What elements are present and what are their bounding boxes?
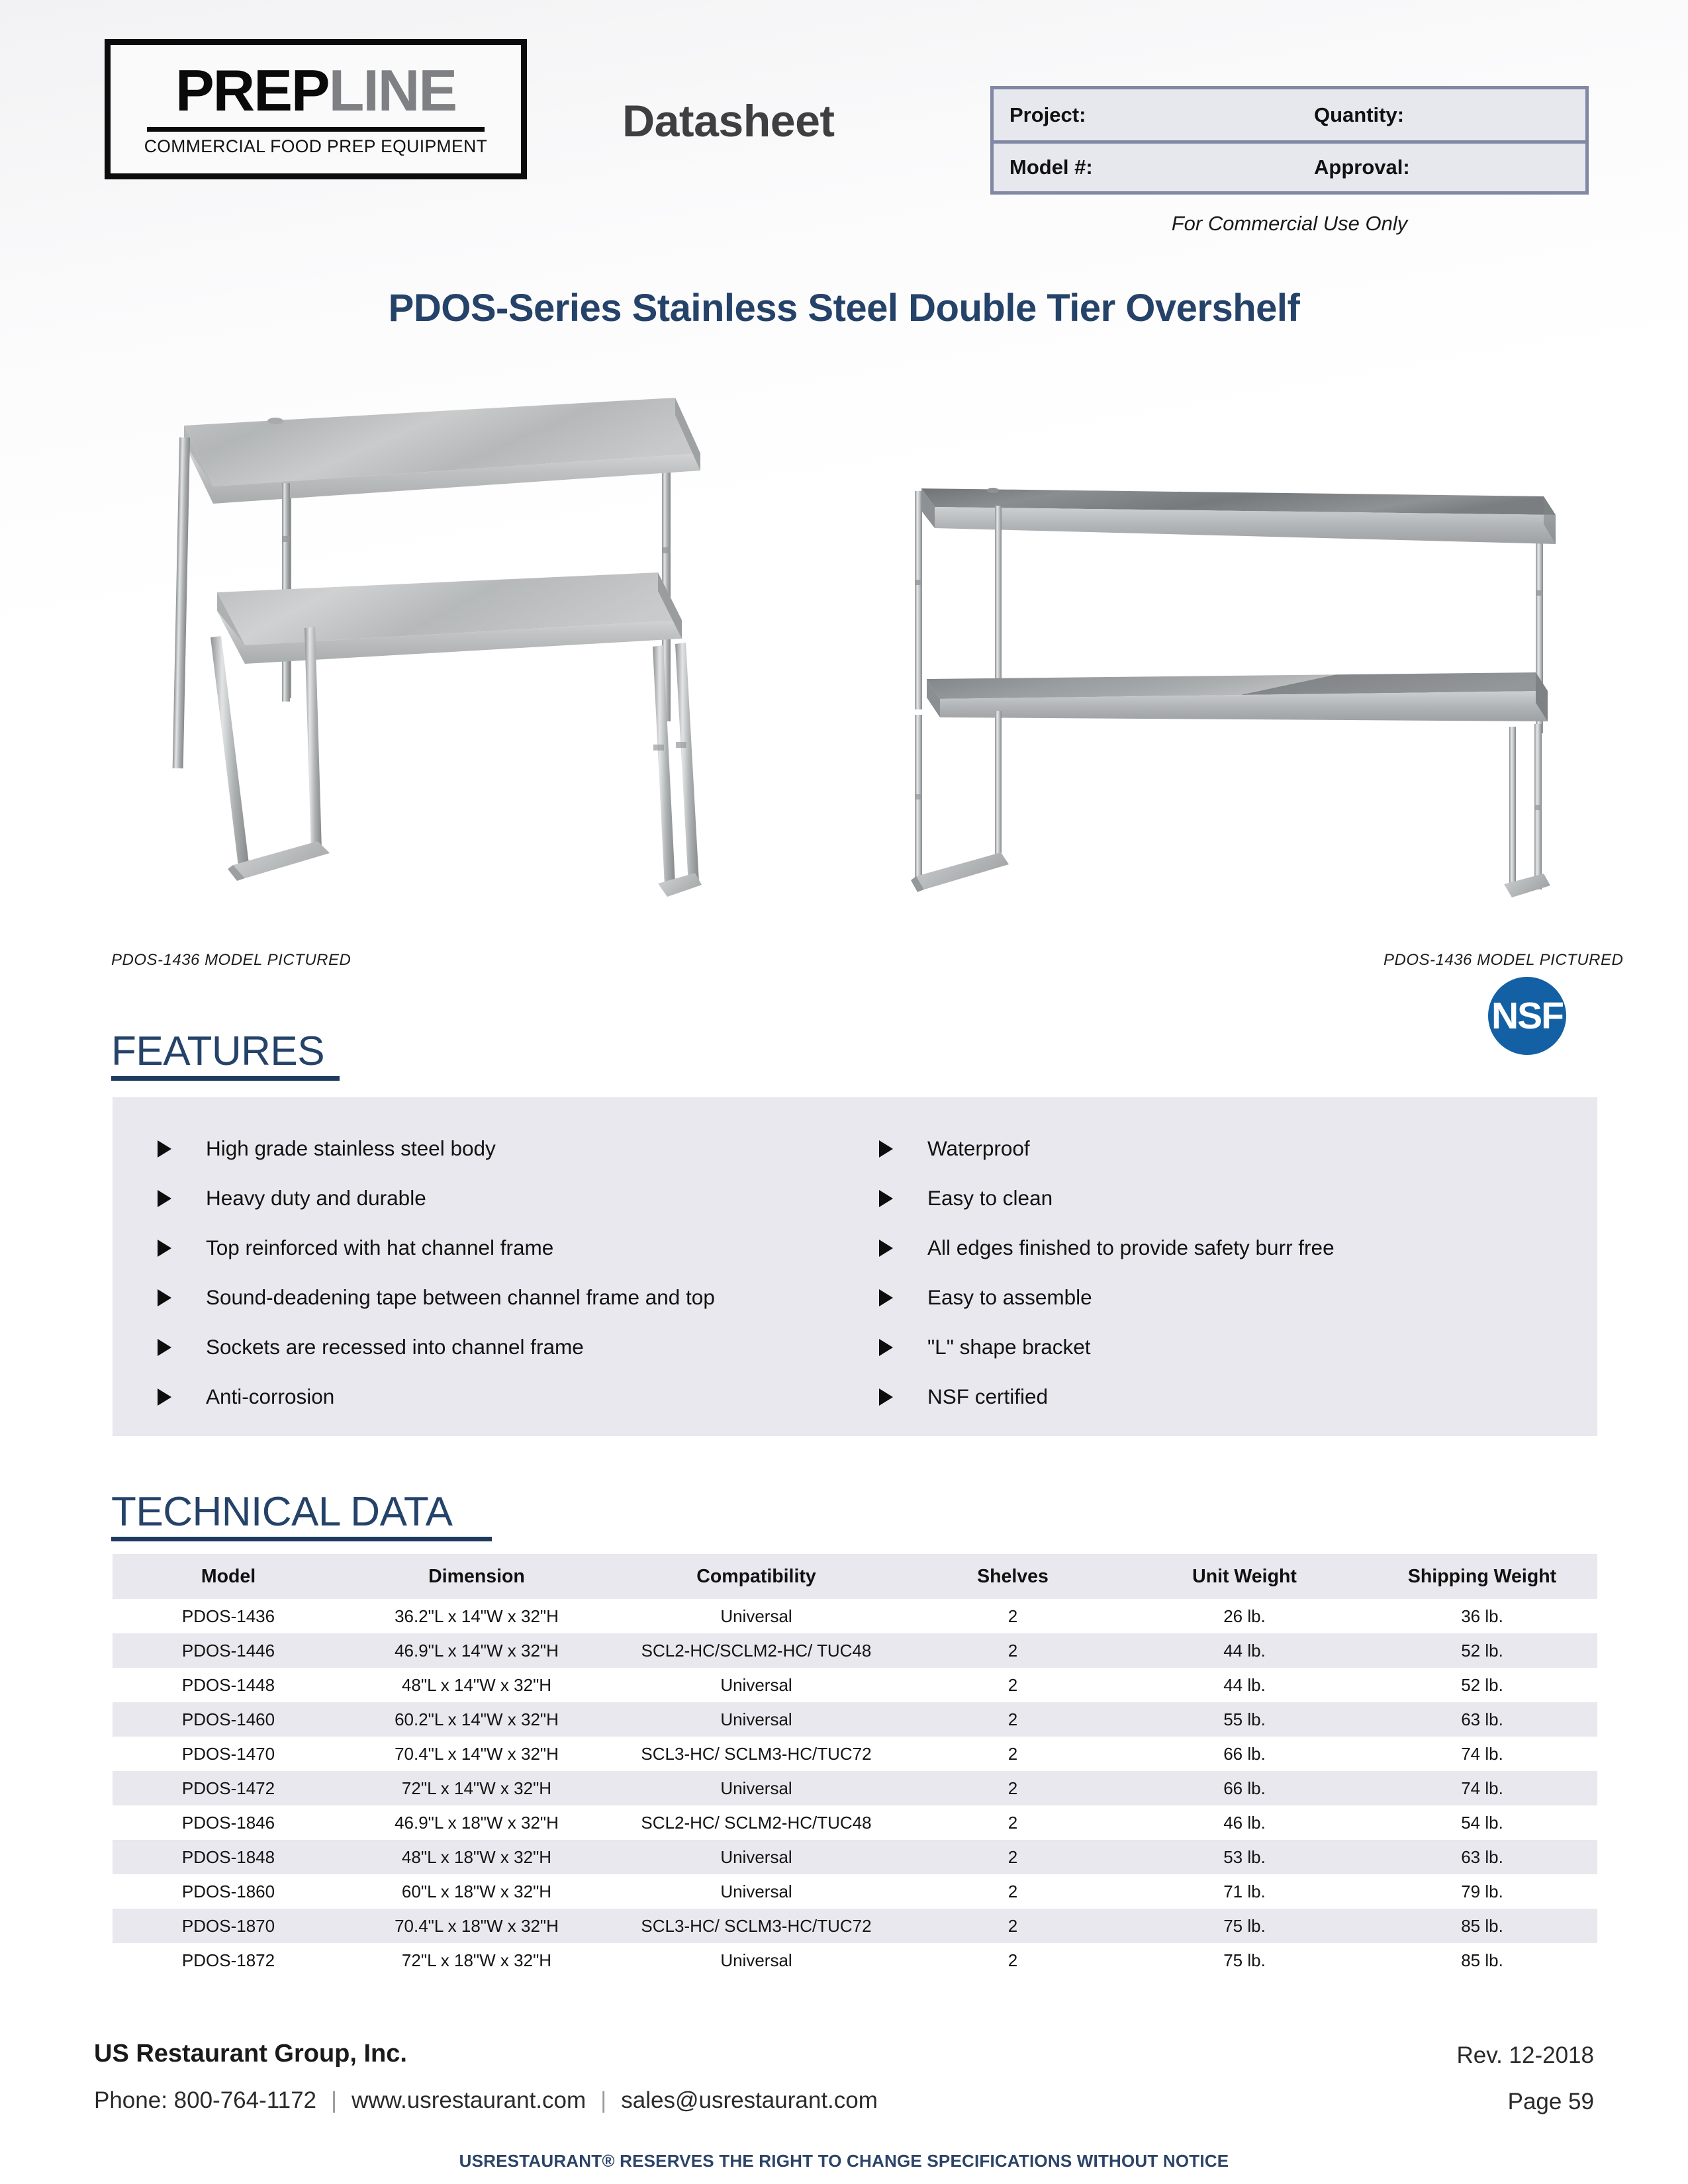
- cell-unit-weight: 46 lb.: [1122, 1805, 1367, 1840]
- logo-tagline: COMMERCIAL FOOD PREP EQUIPMENT: [144, 136, 488, 157]
- logo-divider: [147, 127, 485, 132]
- cell-shipping-weight: 36 lb.: [1367, 1599, 1597, 1633]
- cell-shelves: 2: [904, 1702, 1122, 1737]
- feature-item: Heavy duty and durable: [139, 1173, 867, 1223]
- feature-item: All edges finished to provide safety bur…: [861, 1223, 1562, 1273]
- triangle-bullet-icon: [879, 1289, 893, 1306]
- features-heading-text: FEATURES: [111, 1028, 324, 1074]
- cell-unit-weight: 66 lb.: [1122, 1737, 1367, 1771]
- cell-model: PDOS-1460: [113, 1702, 344, 1737]
- footer-company-name: US Restaurant Group, Inc.: [94, 2040, 407, 2068]
- cell-unit-weight: 66 lb.: [1122, 1771, 1367, 1805]
- cell-model: PDOS-1860: [113, 1874, 344, 1909]
- cell-shipping-weight: 52 lb.: [1367, 1668, 1597, 1702]
- feature-item: NSF certified: [861, 1372, 1562, 1422]
- cell-unit-weight: 75 lb.: [1122, 1909, 1367, 1943]
- cell-shipping-weight: 63 lb.: [1367, 1840, 1597, 1874]
- table-row: PDOS-184646.9"L x 18"W x 32"HSCL2-HC/ SC…: [113, 1805, 1597, 1840]
- features-column-left: High grade stainless steel body Heavy du…: [139, 1124, 867, 1422]
- cell-dimension: 36.2"L x 14"W x 32"H: [344, 1599, 609, 1633]
- cell-shipping-weight: 63 lb.: [1367, 1702, 1597, 1737]
- cell-shipping-weight: 85 lb.: [1367, 1943, 1597, 1978]
- column-header-dimension: Dimension: [344, 1554, 609, 1599]
- feature-label: "L" shape bracket: [927, 1335, 1091, 1359]
- table-row: PDOS-147272"L x 14"W x 32"HUniversal266 …: [113, 1771, 1597, 1805]
- technical-data-heading-underline: [111, 1537, 492, 1541]
- cell-compatibility: Universal: [609, 1702, 904, 1737]
- triangle-bullet-icon: [158, 1289, 171, 1306]
- feature-item: "L" shape bracket: [861, 1322, 1562, 1372]
- cell-shelves: 2: [904, 1943, 1122, 1978]
- cell-shipping-weight: 54 lb.: [1367, 1805, 1597, 1840]
- triangle-bullet-icon: [879, 1339, 893, 1356]
- cell-shelves: 2: [904, 1805, 1122, 1840]
- cell-model: PDOS-1472: [113, 1771, 344, 1805]
- cell-shipping-weight: 74 lb.: [1367, 1771, 1597, 1805]
- table-body: PDOS-143636.2"L x 14"W x 32"HUniversal22…: [113, 1599, 1597, 1978]
- cell-model: PDOS-1448: [113, 1668, 344, 1702]
- cell-model: PDOS-1446: [113, 1633, 344, 1668]
- cell-compatibility: Universal: [609, 1668, 904, 1702]
- cell-shelves: 2: [904, 1668, 1122, 1702]
- feature-item: Anti-corrosion: [139, 1372, 867, 1422]
- triangle-bullet-icon: [158, 1388, 171, 1406]
- cell-model: PDOS-1848: [113, 1840, 344, 1874]
- cell-shelves: 2: [904, 1633, 1122, 1668]
- cell-dimension: 72"L x 14"W x 32"H: [344, 1771, 609, 1805]
- prepline-logo: PREPLINE COMMERCIAL FOOD PREP EQUIPMENT: [105, 39, 527, 179]
- cell-unit-weight: 44 lb.: [1122, 1633, 1367, 1668]
- triangle-bullet-icon: [158, 1140, 171, 1158]
- triangle-bullet-icon: [158, 1240, 171, 1257]
- cell-dimension: 72"L x 18"W x 32"H: [344, 1943, 609, 1978]
- feature-item: Sound-deadening tape between channel fra…: [139, 1273, 867, 1322]
- feature-label: Easy to assemble: [927, 1285, 1092, 1310]
- cell-model: PDOS-1870: [113, 1909, 344, 1943]
- cell-unit-weight: 71 lb.: [1122, 1874, 1367, 1909]
- feature-label: Easy to clean: [927, 1186, 1053, 1210]
- footer-email-link[interactable]: sales@usrestaurant.com: [621, 2087, 878, 2113]
- feature-label: High grade stainless steel body: [206, 1136, 496, 1161]
- table-row: PDOS-187272"L x 18"W x 32"HUniversal275 …: [113, 1943, 1597, 1978]
- logo-wordmark: PREPLINE: [175, 62, 456, 120]
- project-row-1: Project: Quantity:: [994, 89, 1585, 140]
- document-type-title: Datasheet: [622, 95, 835, 147]
- registered-mark-icon: ®: [1566, 1024, 1572, 1034]
- feature-label: NSF certified: [927, 1385, 1048, 1409]
- feature-label: Waterproof: [927, 1136, 1030, 1161]
- table-row: PDOS-147070.4"L x 14"W x 32"HSCL3-HC/ SC…: [113, 1737, 1597, 1771]
- product-photo-left: [152, 374, 702, 903]
- table-row: PDOS-144848"L x 14"W x 32"HUniversal244 …: [113, 1668, 1597, 1702]
- product-photo-right: [874, 450, 1575, 900]
- cell-shelves: 2: [904, 1737, 1122, 1771]
- cell-unit-weight: 55 lb.: [1122, 1702, 1367, 1737]
- cell-shelves: 2: [904, 1840, 1122, 1874]
- column-header-unit-weight: Unit Weight: [1122, 1554, 1367, 1599]
- nsf-badge-text: NSF®: [1491, 997, 1563, 1035]
- features-heading: FEATURES: [111, 1031, 340, 1081]
- feature-item: Easy to clean: [861, 1173, 1562, 1223]
- feature-label: All edges finished to provide safety bur…: [927, 1236, 1335, 1260]
- cell-shipping-weight: 85 lb.: [1367, 1909, 1597, 1943]
- footer-disclaimer: USRESTAURANT® RESERVES THE RIGHT TO CHAN…: [0, 2151, 1688, 2171]
- cell-unit-weight: 53 lb.: [1122, 1840, 1367, 1874]
- cell-unit-weight: 75 lb.: [1122, 1943, 1367, 1978]
- cell-model: PDOS-1436: [113, 1599, 344, 1633]
- column-header-shelves: Shelves: [904, 1554, 1122, 1599]
- column-header-compatibility: Compatibility: [609, 1554, 904, 1599]
- cell-shipping-weight: 74 lb.: [1367, 1737, 1597, 1771]
- cell-compatibility: SCL3-HC/ SCLM3-HC/TUC72: [609, 1737, 904, 1771]
- footer-page-number: Page 59: [1508, 2089, 1594, 2115]
- triangle-bullet-icon: [879, 1240, 893, 1257]
- cell-dimension: 48"L x 18"W x 32"H: [344, 1840, 609, 1874]
- datasheet-page: PREPLINE COMMERCIAL FOOD PREP EQUIPMENT …: [0, 0, 1688, 2184]
- footer-website-link[interactable]: www.usrestaurant.com: [352, 2087, 586, 2113]
- column-header-model: Model: [113, 1554, 344, 1599]
- cell-model: PDOS-1846: [113, 1805, 344, 1840]
- feature-item: Sockets are recessed into channel frame: [139, 1322, 867, 1372]
- footer-phone: Phone: 800-764-1172: [94, 2087, 316, 2113]
- nsf-certification-badge: NSF®: [1488, 977, 1566, 1055]
- approval-label: Approval:: [1298, 156, 1576, 179]
- feature-label: Anti-corrosion: [206, 1385, 334, 1409]
- quantity-label: Quantity:: [1298, 103, 1576, 127]
- cell-compatibility: Universal: [609, 1771, 904, 1805]
- logo-word-line: LINE: [329, 58, 456, 123]
- cell-dimension: 70.4"L x 14"W x 32"H: [344, 1737, 609, 1771]
- feature-item: Easy to assemble: [861, 1273, 1562, 1322]
- cell-compatibility: Universal: [609, 1943, 904, 1978]
- cell-dimension: 60.2"L x 14"W x 32"H: [344, 1702, 609, 1737]
- technical-data-heading: TECHNICAL DATA: [111, 1492, 492, 1541]
- footer-contact-line: Phone: 800-764-1172|www.usrestaurant.com…: [94, 2087, 878, 2114]
- photo-caption-right: PDOS-1436 MODEL PICTURED: [1383, 951, 1623, 970]
- project-info-box: Project: Quantity: Model #: Approval:: [990, 86, 1589, 195]
- features-column-right: Waterproof Easy to clean All edges finis…: [861, 1124, 1562, 1422]
- cell-compatibility: SCL2-HC/SCLM2-HC/ TUC48: [609, 1633, 904, 1668]
- technical-data-heading-text: TECHNICAL DATA: [111, 1489, 452, 1535]
- cell-compatibility: Universal: [609, 1599, 904, 1633]
- table-row: PDOS-144646.9"L x 14"W x 32"HSCL2-HC/SCL…: [113, 1633, 1597, 1668]
- features-panel: High grade stainless steel body Heavy du…: [113, 1097, 1597, 1436]
- column-header-shipping-weight: Shipping Weight: [1367, 1554, 1597, 1599]
- cell-dimension: 70.4"L x 18"W x 32"H: [344, 1909, 609, 1943]
- cell-compatibility: SCL3-HC/ SCLM3-HC/TUC72: [609, 1909, 904, 1943]
- feature-label: Sound-deadening tape between channel fra…: [206, 1285, 715, 1310]
- footer-revision: Rev. 12-2018: [1456, 2042, 1594, 2069]
- feature-item: Waterproof: [861, 1124, 1562, 1173]
- cell-unit-weight: 26 lb.: [1122, 1599, 1367, 1633]
- project-row-2: Model #: Approval:: [994, 140, 1585, 191]
- cell-model: PDOS-1470: [113, 1737, 344, 1771]
- project-label: Project:: [994, 103, 1298, 127]
- feature-label: Sockets are recessed into channel frame: [206, 1335, 584, 1359]
- photo-caption-left: PDOS-1436 MODEL PICTURED: [111, 951, 351, 970]
- logo-word-prep: PREP: [175, 58, 329, 123]
- cell-unit-weight: 44 lb.: [1122, 1668, 1367, 1702]
- table-row: PDOS-187070.4"L x 18"W x 32"HSCL3-HC/ SC…: [113, 1909, 1597, 1943]
- feature-item: High grade stainless steel body: [139, 1124, 867, 1173]
- feature-label: Top reinforced with hat channel frame: [206, 1236, 553, 1260]
- cell-shelves: 2: [904, 1874, 1122, 1909]
- table-row: PDOS-146060.2"L x 14"W x 32"HUniversal25…: [113, 1702, 1597, 1737]
- product-photos: [0, 367, 1688, 930]
- footer-separator: |: [586, 2087, 621, 2113]
- page-header: PREPLINE COMMERCIAL FOOD PREP EQUIPMENT …: [0, 34, 1688, 206]
- cell-dimension: 46.9"L x 14"W x 32"H: [344, 1633, 609, 1668]
- triangle-bullet-icon: [158, 1339, 171, 1356]
- features-heading-underline: [111, 1076, 340, 1081]
- cell-compatibility: Universal: [609, 1840, 904, 1874]
- commercial-use-note: For Commercial Use Only: [990, 212, 1589, 236]
- cell-compatibility: SCL2-HC/ SCLM2-HC/TUC48: [609, 1805, 904, 1840]
- triangle-bullet-icon: [158, 1190, 171, 1207]
- cell-shelves: 2: [904, 1771, 1122, 1805]
- model-number-label: Model #:: [994, 156, 1298, 179]
- table-row: PDOS-184848"L x 18"W x 32"HUniversal253 …: [113, 1840, 1597, 1874]
- triangle-bullet-icon: [879, 1388, 893, 1406]
- cell-dimension: 60"L x 18"W x 32"H: [344, 1874, 609, 1909]
- triangle-bullet-icon: [879, 1190, 893, 1207]
- triangle-bullet-icon: [879, 1140, 893, 1158]
- cell-dimension: 46.9"L x 18"W x 32"H: [344, 1805, 609, 1840]
- feature-item: Top reinforced with hat channel frame: [139, 1223, 867, 1273]
- cell-shelves: 2: [904, 1599, 1122, 1633]
- feature-label: Heavy duty and durable: [206, 1186, 426, 1210]
- footer-separator: |: [316, 2087, 352, 2113]
- table-header-row: Model Dimension Compatibility Shelves Un…: [113, 1554, 1597, 1599]
- table-row: PDOS-186060"L x 18"W x 32"HUniversal271 …: [113, 1874, 1597, 1909]
- cell-compatibility: Universal: [609, 1874, 904, 1909]
- cell-shipping-weight: 52 lb.: [1367, 1633, 1597, 1668]
- cell-dimension: 48"L x 14"W x 32"H: [344, 1668, 609, 1702]
- page-title: PDOS-Series Stainless Steel Double Tier …: [0, 286, 1688, 330]
- technical-data-table: Model Dimension Compatibility Shelves Un…: [113, 1554, 1597, 1978]
- cell-model: PDOS-1872: [113, 1943, 344, 1978]
- table-row: PDOS-143636.2"L x 14"W x 32"HUniversal22…: [113, 1599, 1597, 1633]
- cell-shelves: 2: [904, 1909, 1122, 1943]
- cell-shipping-weight: 79 lb.: [1367, 1874, 1597, 1909]
